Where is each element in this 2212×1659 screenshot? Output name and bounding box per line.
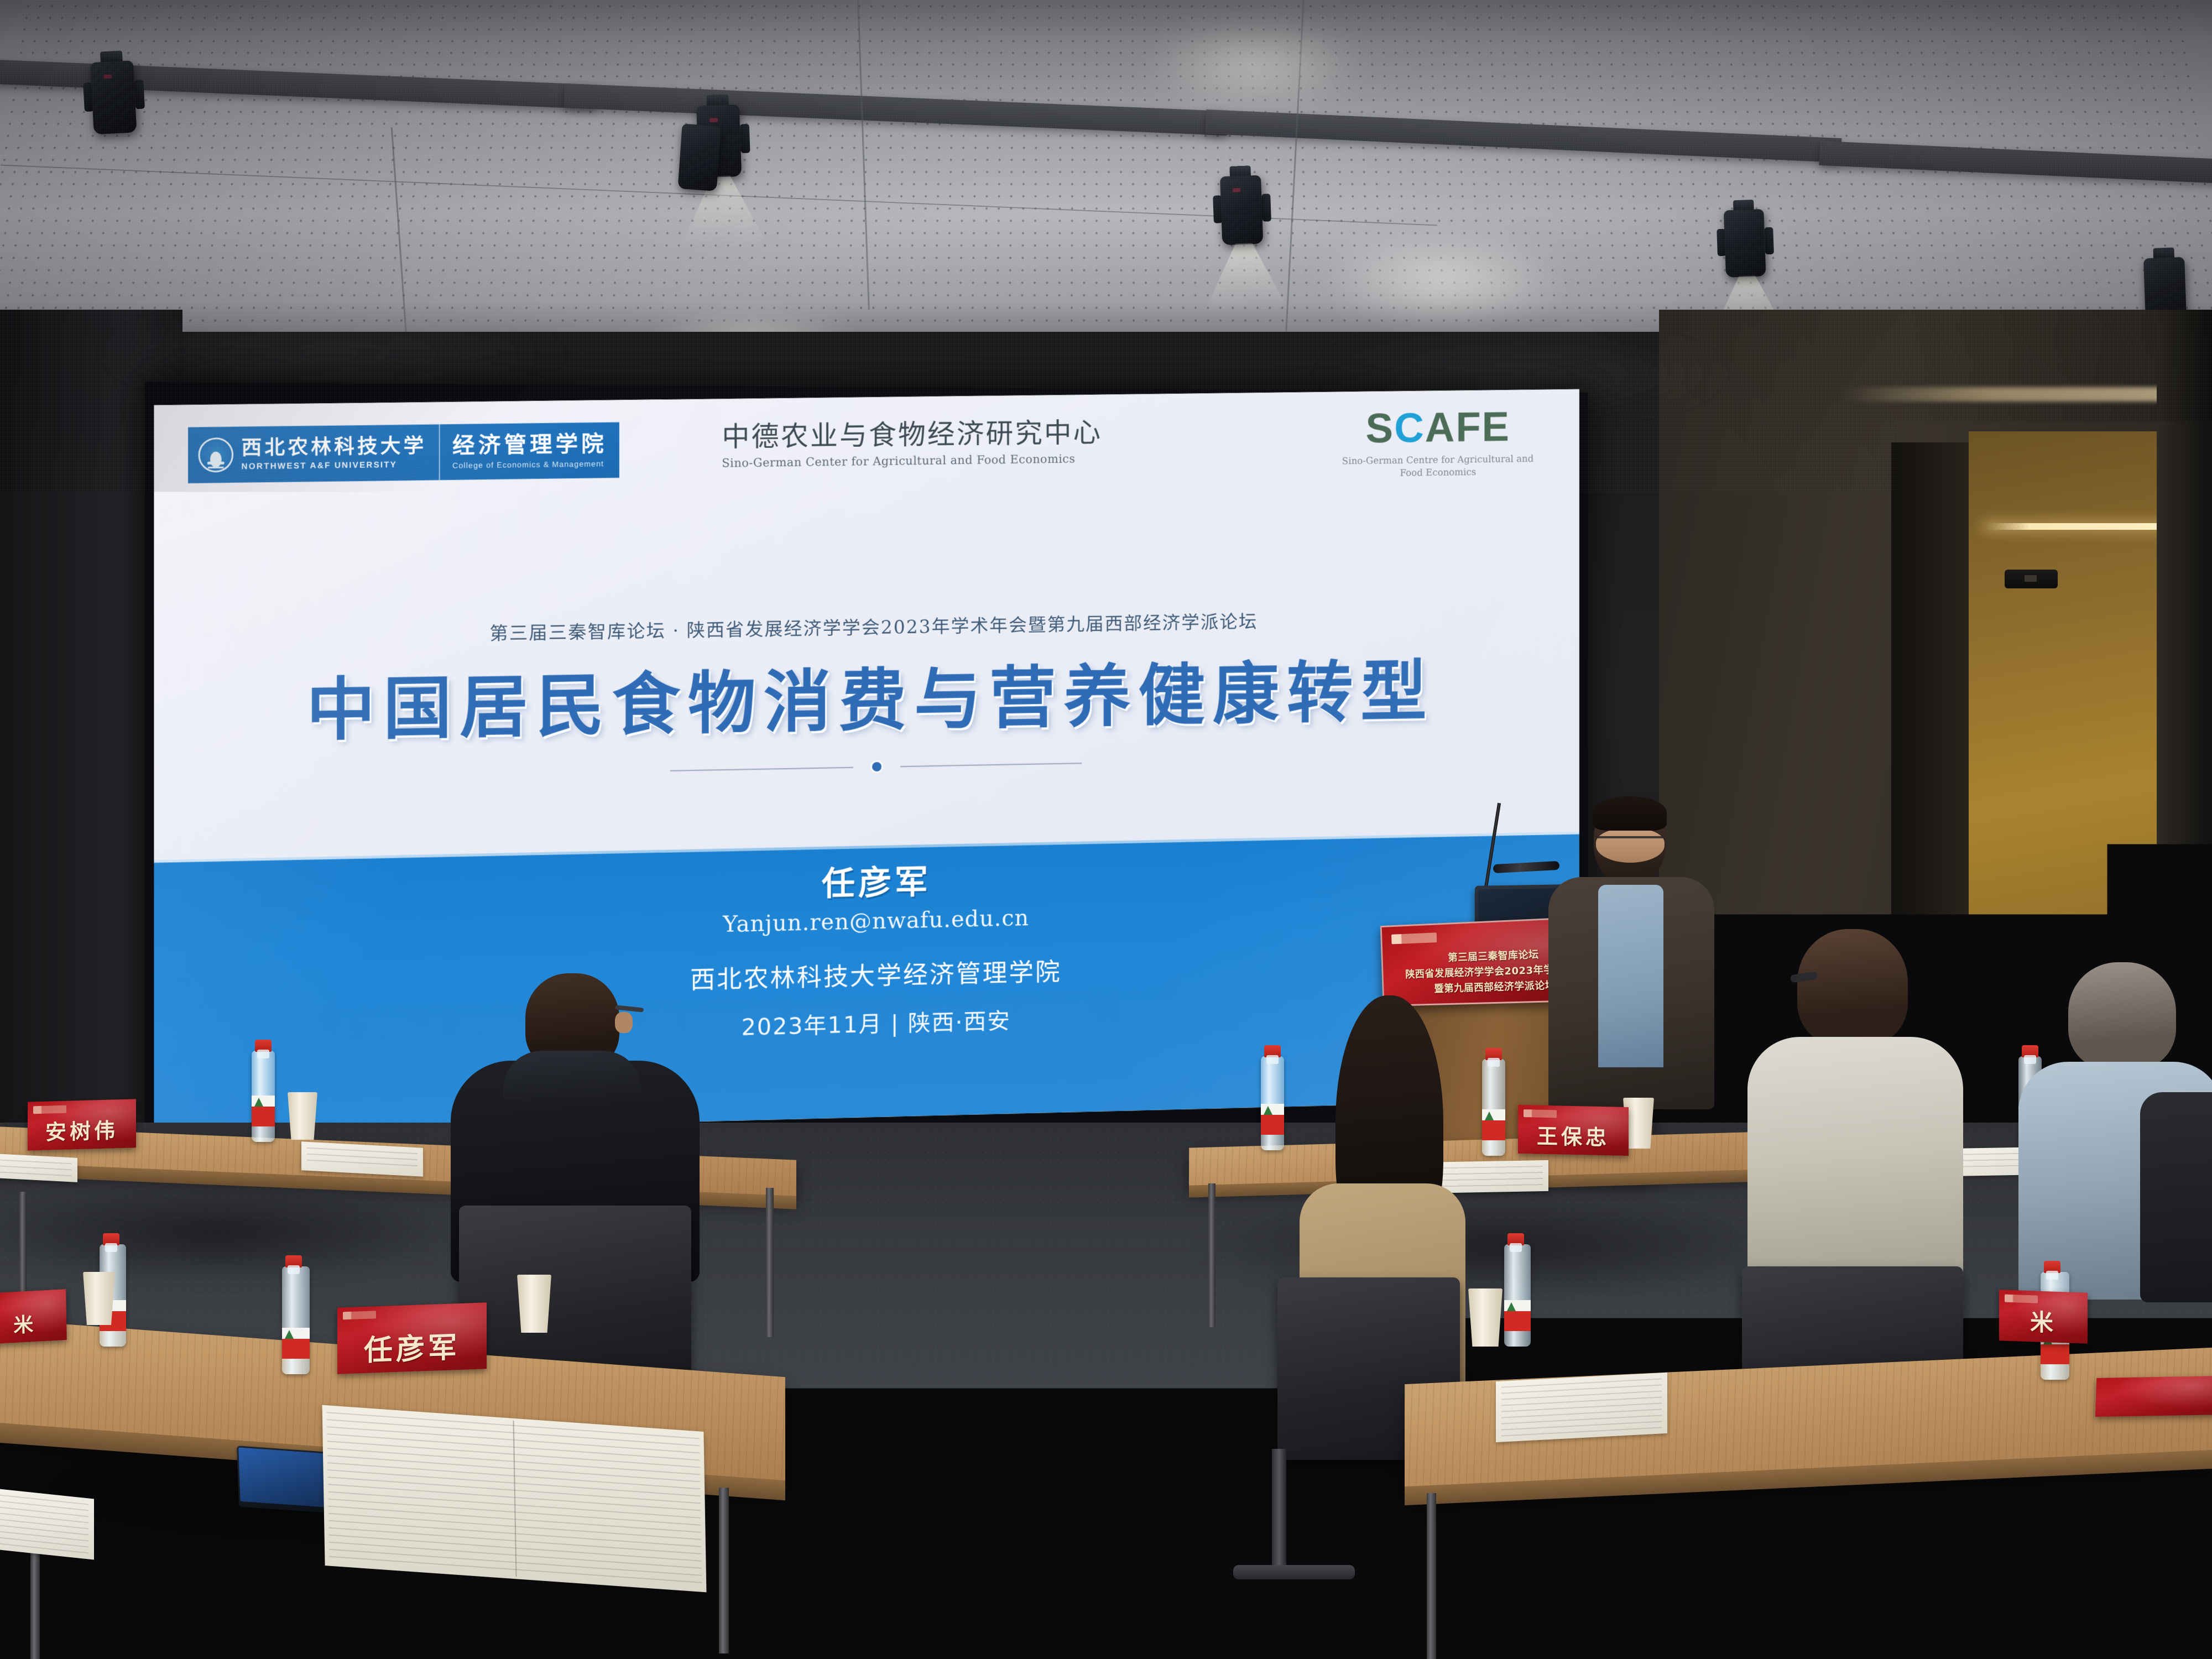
rule-line-right — [900, 763, 1081, 767]
spotlight-yoke-right — [1261, 194, 1271, 222]
speaker-shirt — [1598, 885, 1663, 1067]
university-name-en: NORTHWEST A&F UNIVERSITY — [241, 460, 426, 471]
placard-sheen — [28, 1099, 136, 1150]
table-leg — [766, 1188, 774, 1337]
bottle-label — [1504, 1300, 1531, 1331]
paper-cup — [517, 1275, 551, 1333]
open-program-booklet — [322, 1405, 707, 1593]
name-placard-3: 王保忠 — [1518, 1105, 1629, 1156]
scafe-subtitle: Sino-German Centre for Agricultural and … — [1335, 453, 1541, 481]
coat-button-icon — [1924, 1571, 1937, 1583]
audience-1-glasses-icon — [615, 1005, 644, 1012]
college-name-en: College of Economics & Management — [452, 459, 607, 470]
table-leg — [1427, 1493, 1436, 1659]
spotlight-yoke-right — [134, 80, 145, 109]
paper-cup — [1468, 1288, 1503, 1347]
chair-2-base — [1233, 1565, 1355, 1579]
ceiling — [0, 0, 2212, 354]
document-sheet — [0, 1154, 77, 1182]
speaker-hair — [1593, 796, 1667, 831]
chair-2-post — [1272, 1449, 1286, 1576]
water-bottle — [282, 1266, 310, 1374]
spotlight-head-icon — [90, 60, 137, 134]
scafe-letter-c: C — [1394, 404, 1425, 451]
research-center-block: 中德农业与食物经济研究中心 Sino-German Center for Agr… — [722, 416, 1272, 470]
spotlight-head-icon — [678, 123, 721, 191]
placard-sheen — [2095, 1376, 2212, 1417]
scafe-letter-f: F — [1455, 404, 1481, 451]
bottle-neck — [257, 1050, 269, 1058]
research-center-name-cn: 中德农业与食物经济研究中心 — [722, 416, 1272, 453]
bottle-neck — [2046, 1271, 2058, 1280]
scafe-letter-a: A — [1425, 404, 1456, 451]
stage-spotlight-4 — [1215, 165, 1269, 249]
scafe-letter-e: E — [1482, 404, 1510, 451]
name-placard-flat — [2095, 1376, 2212, 1417]
university-name-cn: 西北农林科技大学 — [241, 436, 426, 459]
slide-logo-bar: 西北农林科技大学 NORTHWEST A&F UNIVERSITY 经济管理学院… — [188, 422, 619, 483]
paper-cup — [83, 1272, 115, 1325]
conference-photo-scene: 西北农林科技大学 NORTHWEST A&F UNIVERSITY 经济管理学院… — [0, 0, 2212, 1659]
scafe-letter-s: S — [1365, 405, 1394, 452]
audience-person-4 — [2002, 962, 2212, 1316]
university-seal-icon — [199, 437, 234, 473]
document-text-lines — [307, 1147, 418, 1171]
bottle-neck — [288, 1265, 300, 1274]
bottle-label — [282, 1328, 310, 1359]
water-bottle — [252, 1051, 275, 1142]
placard-sheen — [337, 1302, 487, 1374]
bottle-neck — [1510, 1243, 1522, 1252]
rule-line-left — [670, 766, 853, 771]
stage-spotlight-1 — [85, 50, 143, 139]
audience-1-collar — [503, 1051, 641, 1100]
coat-button-icon — [1928, 1615, 1940, 1627]
rule-dot-icon — [872, 762, 881, 771]
college-logo: 经济管理学院 College of Economics & Management — [440, 422, 619, 480]
ceiling-perforation-texture — [0, 5, 2212, 358]
spotlight-indicator-icon — [103, 74, 112, 79]
spotlight-indicator-icon — [1233, 188, 1240, 192]
paper-cup — [288, 1092, 317, 1140]
floor-cable — [1515, 1250, 1593, 1277]
stage-spotlight-3 — [673, 114, 727, 196]
audience-person-3 — [1736, 929, 1974, 1316]
smartphone[interactable] — [237, 1446, 327, 1513]
floor-paper — [977, 1600, 1058, 1646]
audience-4-head — [2068, 962, 2176, 1070]
name-placard-2: 任彦军 — [337, 1302, 487, 1374]
spotlight-head-icon — [1724, 209, 1766, 278]
table-leg — [719, 1488, 729, 1653]
banner-university-logo-icon — [1391, 932, 1437, 944]
name-placard-4: 米 — [0, 1289, 67, 1344]
stage-spotlight-5 — [1719, 199, 1771, 282]
college-name-cn: 经济管理学院 — [452, 432, 607, 458]
audience-1-ear — [615, 1012, 633, 1033]
audience-3-head — [1797, 929, 1908, 1045]
scafe-wordmark: SCAFE — [1335, 406, 1541, 450]
audience-3-shirt — [1747, 1037, 1963, 1286]
bottle-neck — [105, 1243, 117, 1252]
table-leg — [1208, 1183, 1215, 1327]
spotlight-yoke-right — [1764, 227, 1773, 255]
scafe-logo: SCAFE Sino-German Centre for Agricultura… — [1335, 406, 1541, 481]
bottle-neck — [1488, 1058, 1500, 1067]
audience-4-vest — [2140, 1092, 2212, 1302]
spotlight-head-icon — [1220, 175, 1263, 246]
ceiling-downlight-glow-1 — [1316, 232, 1571, 326]
university-logo: 西北农林科技大学 NORTHWEST A&F UNIVERSITY — [188, 424, 440, 483]
document-sheet — [0, 1487, 94, 1559]
placard-sheen — [1518, 1105, 1629, 1156]
hair-clip-icon — [1720, 1282, 1792, 1316]
spotlight-yoke-right — [740, 124, 750, 153]
document-text-lines — [0, 1494, 88, 1554]
ceiling-downlight-glow-3 — [1139, 22, 1371, 111]
booklet-text-lines — [327, 1412, 702, 1587]
placard-sheen — [0, 1289, 67, 1344]
speaker-glasses-icon — [1596, 836, 1665, 847]
name-placard-1: 安树伟 — [28, 1099, 136, 1150]
document-text-lines — [0, 1160, 72, 1177]
bottle-label — [252, 1095, 275, 1126]
speaker-person — [1543, 796, 1725, 1106]
university-names: 西北农林科技大学 NORTHWEST A&F UNIVERSITY — [241, 436, 426, 472]
chair-5 — [1449, 1579, 1759, 1659]
door-handle-icon[interactable] — [2005, 570, 2058, 588]
